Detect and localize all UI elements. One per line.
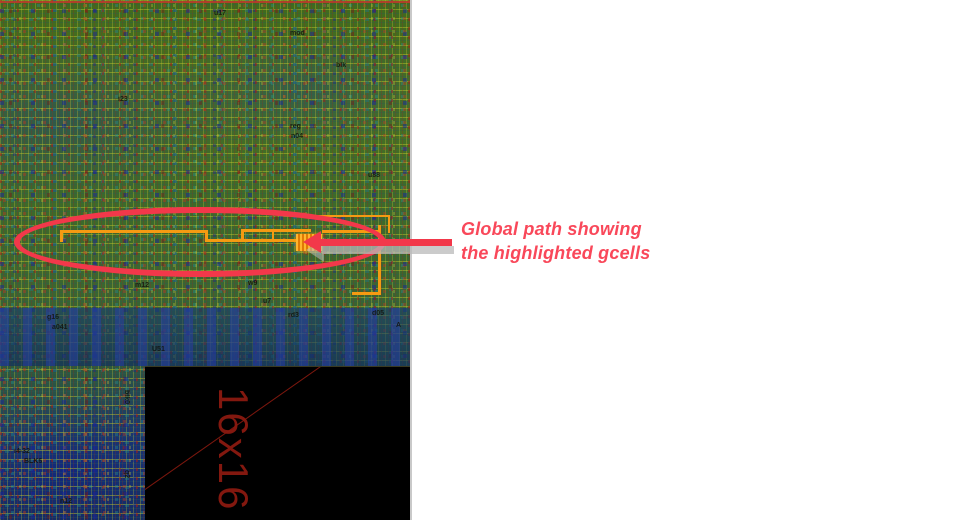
route-segment bbox=[388, 215, 390, 233]
instance-label: d05 bbox=[372, 310, 384, 317]
callout-caption-line-1: Global path showing bbox=[461, 217, 650, 241]
hard-macro-block[interactable]: 16x16 bbox=[145, 366, 410, 520]
callout-caption: Global path showing the highlighted gcel… bbox=[461, 217, 650, 265]
instance-label: U51 bbox=[152, 346, 165, 353]
instance-label: m12 bbox=[135, 282, 149, 289]
instance-label: BLK6 bbox=[24, 458, 42, 465]
instance-label: blk0 bbox=[123, 390, 130, 404]
instance-label: i4-32 bbox=[14, 448, 30, 455]
screenshot-root: modu17blki23regn04u88m12u7rd3g16a041d05A… bbox=[0, 0, 960, 520]
design-boundary-outline bbox=[0, 1, 412, 3]
instance-label: A bbox=[396, 322, 401, 329]
callout-caption-line-2: the highlighted gcells bbox=[461, 241, 650, 265]
instance-label: n04 bbox=[291, 133, 303, 140]
instance-label: u88 bbox=[368, 172, 380, 179]
layout-congestion-band bbox=[0, 308, 412, 366]
callout-arrow bbox=[320, 239, 452, 246]
instance-label: g16 bbox=[47, 314, 59, 321]
chip-floorplan-layout[interactable]: modu17blki23regn04u88m12u7rd3g16a041d05A… bbox=[0, 0, 412, 520]
instance-label: blk bbox=[336, 62, 346, 69]
instance-label: reg bbox=[290, 123, 301, 130]
instance-label: q2 bbox=[123, 470, 130, 478]
callout-arrow-shadow bbox=[322, 246, 454, 254]
instance-label: w9 bbox=[248, 280, 257, 287]
macro-diagonal-line bbox=[145, 366, 376, 518]
route-segment bbox=[352, 292, 381, 295]
instance-label: i23 bbox=[118, 96, 128, 103]
instance-label: u17 bbox=[214, 10, 226, 17]
macro-label: 16x16 bbox=[209, 387, 257, 511]
instance-label: mod bbox=[290, 30, 305, 37]
instance-label: n12 bbox=[60, 498, 72, 505]
instance-label: u7 bbox=[263, 298, 271, 305]
instance-label: rd3 bbox=[288, 312, 299, 319]
instance-label: a041 bbox=[52, 324, 68, 331]
